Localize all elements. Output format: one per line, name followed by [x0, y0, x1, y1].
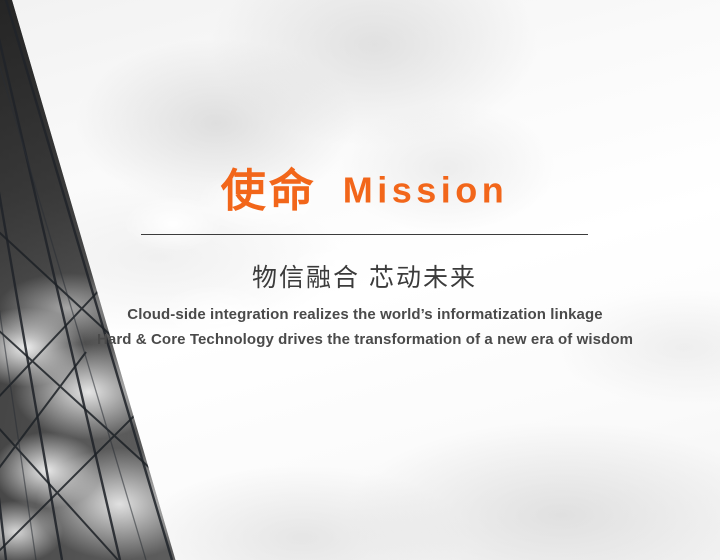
- page-title: 使命Mission: [141, 168, 588, 213]
- subtitle-english-line-2: Hard & Core Technology drives the transf…: [60, 327, 670, 352]
- banner-content: 使命Mission 物信融合 芯动未来 Cloud-side integrati…: [0, 0, 720, 560]
- subtitle-english-line-1: Cloud-side integration realizes the worl…: [60, 302, 670, 327]
- title-divider-rule: [141, 234, 588, 235]
- mission-banner: 使命Mission 物信融合 芯动未来 Cloud-side integrati…: [0, 0, 720, 560]
- subtitle-english: Cloud-side integration realizes the worl…: [60, 302, 670, 352]
- subtitle-chinese: 物信融合 芯动未来: [141, 258, 588, 294]
- page-title-chinese: 使命: [221, 165, 317, 216]
- page-title-english: Mission: [343, 170, 509, 211]
